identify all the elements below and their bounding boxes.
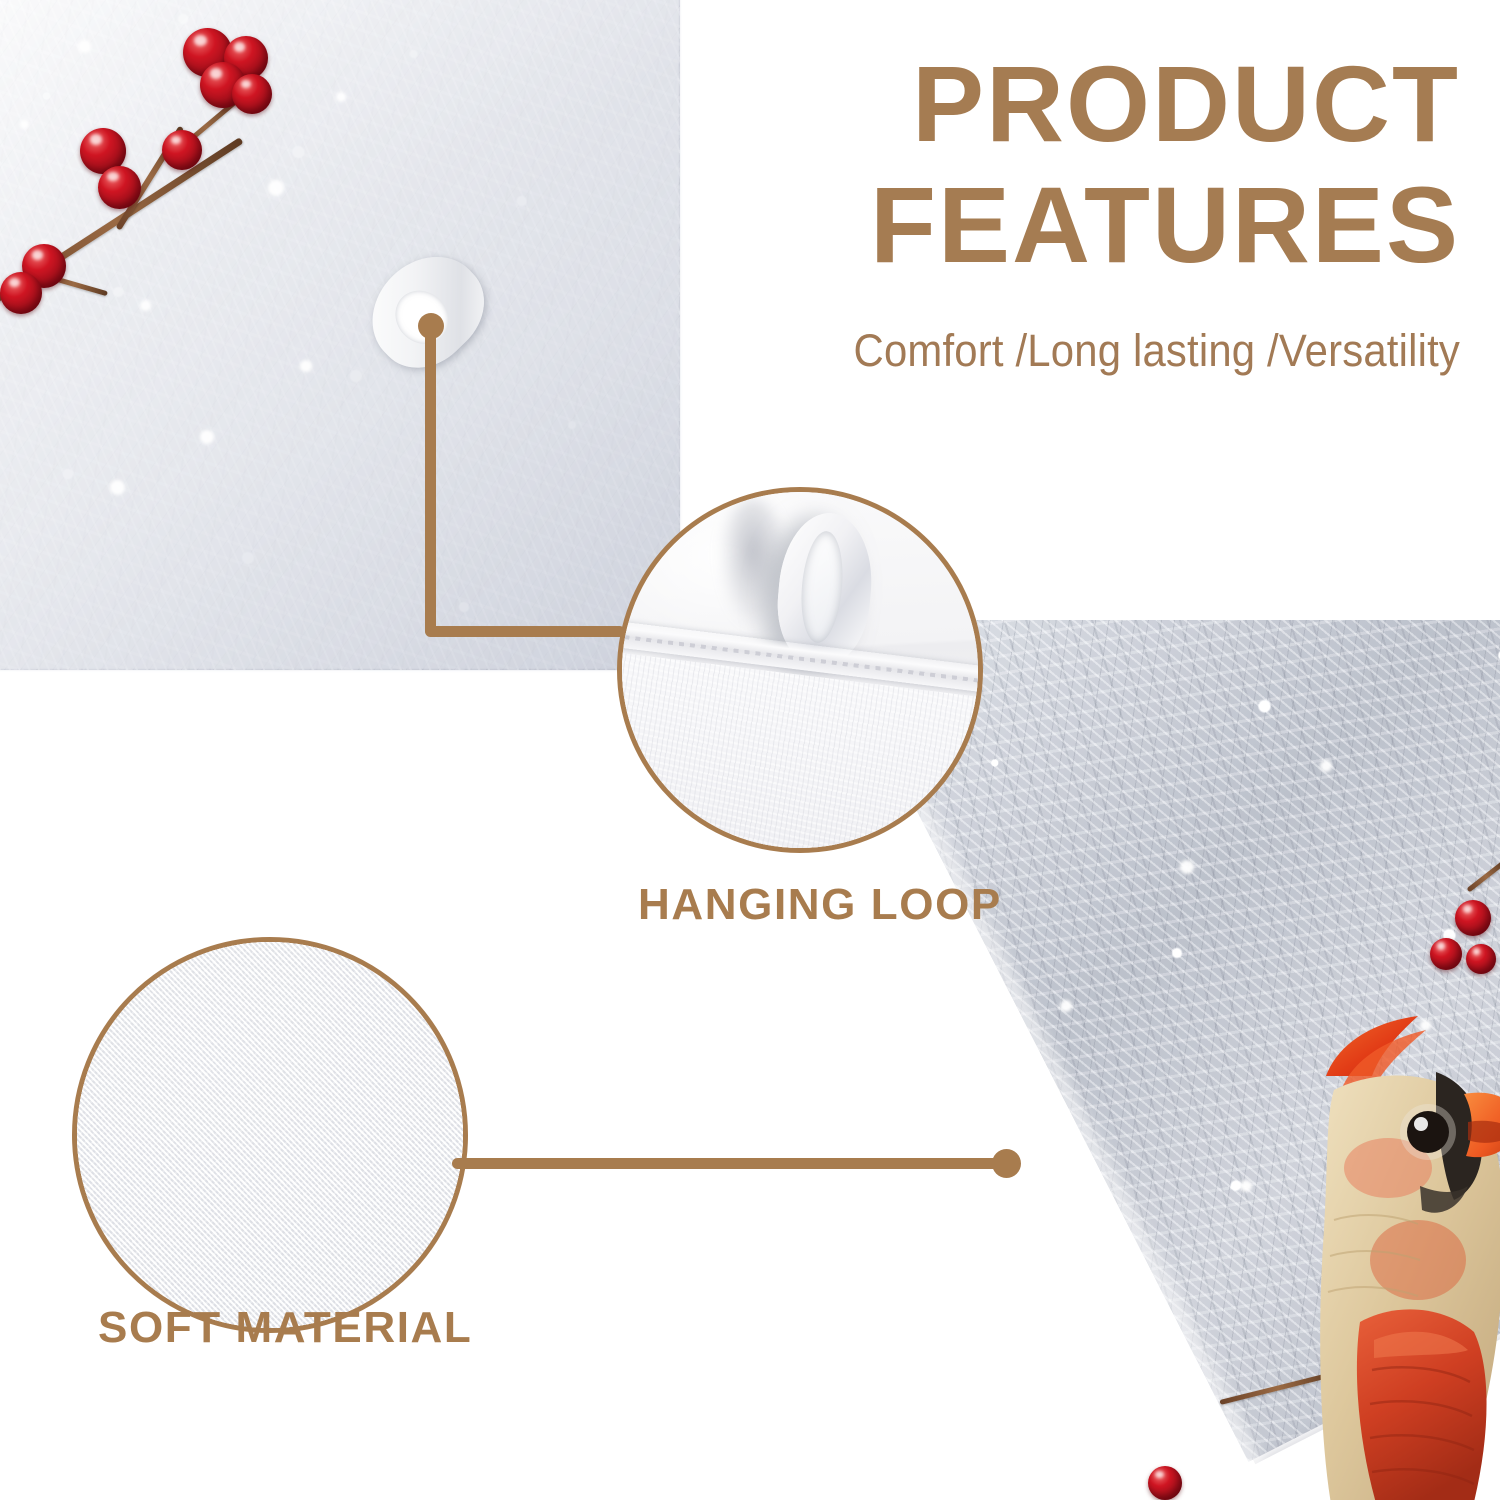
connector-dashed-vertical-loop	[425, 326, 436, 636]
berry	[1430, 938, 1462, 970]
connector-dashed-horizontal-loop	[425, 626, 625, 637]
feature-label-hanging-loop: HANGING LOOP	[638, 880, 1002, 930]
infographic-canvas: HANGING LOOP SOFT MATERIAL PRODUCT FEATU…	[0, 0, 1500, 1500]
snow-fleck	[140, 300, 151, 311]
berry	[1466, 944, 1496, 974]
soft-material-detail-photo	[77, 942, 463, 1328]
snow-fleck	[20, 120, 29, 129]
callout-circle-hanging-loop[interactable]	[617, 487, 983, 853]
page-title: PRODUCT FEATURES	[640, 44, 1460, 286]
snow-fleck	[880, 1400, 890, 1410]
snow-fleck	[110, 480, 125, 495]
snow-fleck	[300, 360, 312, 372]
cardinal-eye	[1407, 1111, 1449, 1153]
snow-fleck	[960, 1240, 971, 1251]
snow-fleck	[1060, 1000, 1072, 1012]
berry	[1455, 900, 1491, 936]
berry	[162, 130, 202, 170]
snow-fleck	[78, 40, 91, 53]
snow-fleck	[200, 430, 214, 444]
snow-fleck	[268, 180, 284, 196]
snow-fleck	[1320, 760, 1332, 772]
callout-circle-soft-material[interactable]	[72, 937, 468, 1333]
feature-label-soft-material: SOFT MATERIAL	[98, 1303, 472, 1353]
title-line-2: FEATURES	[640, 165, 1460, 286]
cardinal-bird-illustration	[1268, 1010, 1500, 1500]
berry	[0, 272, 42, 314]
berry	[1148, 1466, 1182, 1500]
snow-fleck	[1140, 1330, 1153, 1343]
page-subtitle: Comfort /Long lasting /Versatility	[660, 325, 1460, 377]
connector-node-product-surface	[992, 1149, 1021, 1178]
snow-fleck	[1240, 1180, 1252, 1192]
hanging-loop-detail-photo	[622, 492, 978, 848]
snow-fleck	[336, 92, 346, 102]
berry	[232, 74, 272, 114]
berry	[98, 166, 141, 209]
snow-fleck	[1180, 860, 1194, 874]
connector-dashed-horizontal-soft	[452, 1158, 1000, 1169]
title-line-1: PRODUCT	[640, 44, 1460, 165]
